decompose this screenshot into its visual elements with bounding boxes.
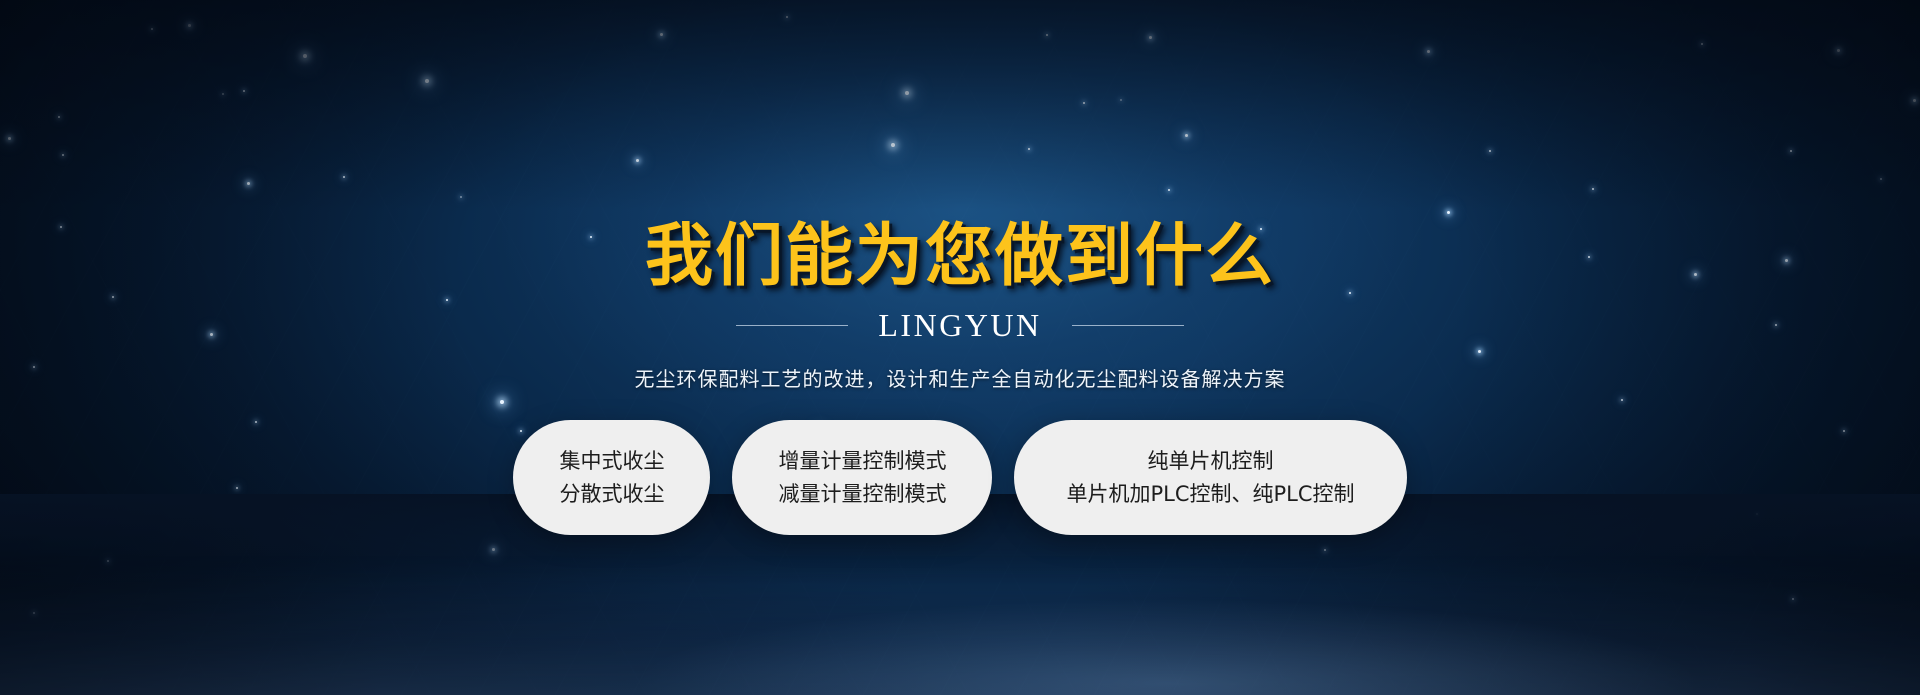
card-line-2: 单片机加PLC控制、纯PLC控制 (1066, 483, 1354, 505)
card-line-1: 集中式收尘 (559, 450, 664, 472)
card-line-2: 减量计量控制模式 (778, 483, 946, 505)
brand-name: LINGYUN (878, 309, 1041, 341)
hero-banner: 我们能为您做到什么 LINGYUN 无尘环保配料工艺的改进，设计和生产全自动化无… (0, 0, 1920, 695)
card-line-1: 纯单片机控制 (1148, 450, 1274, 472)
banner-content: 我们能为您做到什么 LINGYUN 无尘环保配料工艺的改进，设计和生产全自动化无… (0, 0, 1920, 695)
card-line-1: 增量计量控制模式 (778, 450, 946, 472)
feature-card-metering-mode[interactable]: 增量计量控制模式 减量计量控制模式 (732, 420, 992, 535)
feature-card-list: 集中式收尘 分散式收尘 增量计量控制模式 减量计量控制模式 纯单片机控制 单片机… (513, 420, 1406, 535)
brand-row: LINGYUN (736, 309, 1183, 341)
card-line-2: 分散式收尘 (559, 483, 664, 505)
feature-card-dust-collection[interactable]: 集中式收尘 分散式收尘 (513, 420, 710, 535)
banner-tagline: 无尘环保配料工艺的改进，设计和生产全自动化无尘配料设备解决方案 (635, 363, 1286, 392)
banner-headline: 我们能为您做到什么 (645, 223, 1275, 291)
rule-right-icon (1072, 325, 1184, 326)
rule-left-icon (736, 325, 848, 326)
feature-card-control-system[interactable]: 纯单片机控制 单片机加PLC控制、纯PLC控制 (1014, 420, 1406, 535)
